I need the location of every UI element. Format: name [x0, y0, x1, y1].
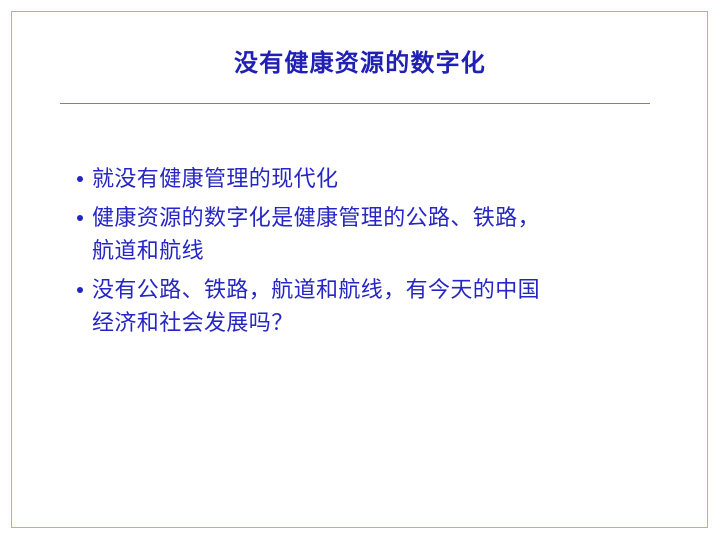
title-divider-rule — [60, 103, 650, 104]
list-item-label: 就没有健康管理的现代化 — [92, 163, 690, 196]
presentation-slide: 没有健康资源的数字化 就没有健康管理的现代化 健康资源的数字化是健康管理的公路、… — [0, 0, 720, 540]
list-item: 就没有健康管理的现代化 — [70, 163, 690, 196]
bullet-dot-icon — [70, 274, 92, 307]
list-item: 没有公路、铁路，航道和航线，有今天的中国 经济和社会发展吗？ — [70, 274, 690, 340]
list-item-label: 健康资源的数字化是健康管理的公路、铁路， 航道和航线 — [92, 202, 690, 268]
bullet-dot-icon — [70, 163, 92, 196]
list-item: 健康资源的数字化是健康管理的公路、铁路， 航道和航线 — [70, 202, 690, 268]
slide-body-bullet-list: 就没有健康管理的现代化 健康资源的数字化是健康管理的公路、铁路， 航道和航线 没… — [70, 163, 690, 346]
list-item-label: 没有公路、铁路，航道和航线，有今天的中国 经济和社会发展吗？ — [92, 274, 690, 340]
page-title: 没有健康资源的数字化 — [234, 48, 486, 78]
slide-title-area: 没有健康资源的数字化 — [0, 48, 720, 78]
bullet-dot-icon — [70, 202, 92, 235]
